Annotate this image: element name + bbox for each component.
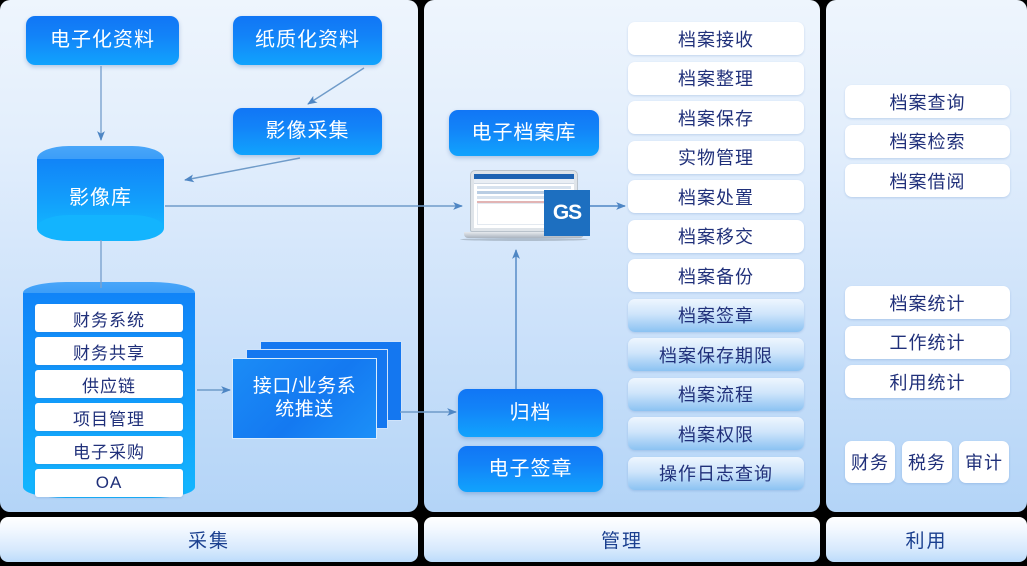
use-tag-item-label: 财务 bbox=[851, 449, 889, 475]
cylinder-business-systems: 财务系统财务共享供应链项目管理电子采购OA bbox=[23, 282, 195, 498]
feature-item-label: 档案移交 bbox=[678, 223, 754, 249]
laptop-illustration: GS bbox=[464, 170, 584, 242]
stack-interface-push[interactable]: 接口/业务系 统推送 bbox=[232, 341, 400, 437]
use-tag-item[interactable]: 税务 bbox=[902, 441, 952, 483]
use-query-item-label: 档案查询 bbox=[890, 89, 966, 115]
feature-item[interactable]: 档案接收 bbox=[628, 22, 804, 55]
feature-item[interactable]: 档案备份 bbox=[628, 259, 804, 292]
business-system-item-label: OA bbox=[96, 473, 123, 493]
use-tag-item-label: 税务 bbox=[908, 449, 946, 475]
feature-item[interactable]: 档案权限 bbox=[628, 417, 804, 450]
feature-item-label: 档案权限 bbox=[678, 421, 754, 447]
use-tag-item[interactable]: 审计 bbox=[959, 441, 1009, 483]
box-paper-materials-label: 纸质化资料 bbox=[255, 29, 360, 52]
feature-item-label: 档案流程 bbox=[678, 381, 754, 407]
feature-item[interactable]: 档案流程 bbox=[628, 378, 804, 411]
diagram-canvas: 电子化资料 纸质化资料 影像采集 影像库 财务系统财务共享供应链项目管理电子采购… bbox=[0, 0, 1027, 566]
feature-item-label: 档案保存 bbox=[678, 105, 754, 131]
stack-sheet-front[interactable]: 接口/业务系 统推送 bbox=[232, 358, 377, 439]
cylinder-image-repository[interactable]: 影像库 bbox=[37, 146, 164, 241]
business-system-item[interactable]: 财务共享 bbox=[35, 337, 183, 365]
business-system-item-label: 供应链 bbox=[82, 372, 136, 397]
feature-item-label: 档案签章 bbox=[678, 302, 754, 328]
box-electronic-seal-label: 电子签章 bbox=[489, 458, 573, 481]
feature-item-label: 实物管理 bbox=[678, 144, 754, 170]
business-system-item[interactable]: 财务系统 bbox=[35, 304, 183, 332]
use-tag-item[interactable]: 财务 bbox=[845, 441, 895, 483]
feature-item[interactable]: 档案保存期限 bbox=[628, 338, 804, 371]
business-system-item-label: 财务共享 bbox=[73, 339, 145, 364]
manage-feature-list: 档案接收档案整理档案保存实物管理档案处置档案移交档案备份档案签章档案保存期限档案… bbox=[628, 0, 808, 512]
panel-use: 档案查询档案检索档案借阅 档案统计工作统计利用统计 财务税务审计 bbox=[826, 0, 1027, 512]
use-query-item-label: 档案检索 bbox=[890, 128, 966, 154]
use-query-item-label: 档案借阅 bbox=[890, 168, 966, 194]
box-electronic-archive-db[interactable]: 电子档案库 bbox=[449, 110, 599, 156]
business-system-item[interactable]: 项目管理 bbox=[35, 403, 183, 431]
use-query-item[interactable]: 档案检索 bbox=[845, 125, 1010, 158]
footer-manage[interactable]: 管理 bbox=[424, 517, 820, 562]
business-system-item[interactable]: OA bbox=[35, 469, 183, 497]
feature-item[interactable]: 档案移交 bbox=[628, 220, 804, 253]
footer-manage-label: 管理 bbox=[601, 526, 643, 553]
push-label-line2: 统推送 bbox=[253, 399, 356, 422]
use-query-item[interactable]: 档案查询 bbox=[845, 85, 1010, 118]
box-archive-action[interactable]: 归档 bbox=[458, 389, 603, 437]
use-stats-item[interactable]: 利用统计 bbox=[845, 365, 1010, 398]
use-tag-item-label: 审计 bbox=[965, 449, 1003, 475]
cylinder-bottom-ellipse bbox=[37, 215, 164, 241]
footer-collect[interactable]: 采集 bbox=[0, 517, 418, 562]
box-image-capture[interactable]: 影像采集 bbox=[233, 108, 382, 155]
feature-item[interactable]: 档案保存 bbox=[628, 101, 804, 134]
cylinder-image-repository-label: 影像库 bbox=[37, 181, 164, 210]
feature-item[interactable]: 档案整理 bbox=[628, 62, 804, 95]
box-paper-materials[interactable]: 纸质化资料 bbox=[233, 16, 382, 65]
feature-item[interactable]: 档案签章 bbox=[628, 299, 804, 332]
screen-toolbar bbox=[474, 179, 574, 184]
box-electronic-materials-label: 电子化资料 bbox=[50, 29, 155, 52]
feature-item-label: 档案处置 bbox=[678, 184, 754, 210]
feature-item-label: 操作日志查询 bbox=[659, 460, 773, 486]
use-tags-group: 财务税务审计 bbox=[845, 441, 1010, 483]
panel-manage: 电子档案库 GS 归档 bbox=[424, 0, 820, 512]
panel-collect: 电子化资料 纸质化资料 影像采集 影像库 财务系统财务共享供应链项目管理电子采购… bbox=[0, 0, 418, 512]
box-electronic-materials[interactable]: 电子化资料 bbox=[26, 16, 179, 65]
use-stats-item[interactable]: 工作统计 bbox=[845, 326, 1010, 359]
use-stats-item-label: 工作统计 bbox=[890, 329, 966, 355]
footer-use[interactable]: 利用 bbox=[826, 517, 1027, 562]
footer-collect-label: 采集 bbox=[188, 526, 230, 553]
screen-row bbox=[477, 186, 571, 189]
business-system-item-label: 财务系统 bbox=[73, 306, 145, 331]
box-electronic-seal[interactable]: 电子签章 bbox=[458, 446, 603, 492]
laptop-shadow bbox=[460, 238, 588, 241]
business-system-item[interactable]: 供应链 bbox=[35, 370, 183, 398]
feature-item-label: 档案保存期限 bbox=[659, 342, 773, 368]
use-stats-item[interactable]: 档案统计 bbox=[845, 286, 1010, 319]
box-electronic-archive-db-label: 电子档案库 bbox=[472, 122, 577, 145]
use-query-item[interactable]: 档案借阅 bbox=[845, 164, 1010, 197]
feature-item-label: 档案整理 bbox=[678, 65, 754, 91]
box-image-capture-label: 影像采集 bbox=[266, 120, 350, 143]
use-stats-item-label: 档案统计 bbox=[890, 290, 966, 316]
feature-item[interactable]: 操作日志查询 bbox=[628, 457, 804, 490]
business-system-item[interactable]: 电子采购 bbox=[35, 436, 183, 464]
box-archive-action-label: 归档 bbox=[510, 402, 552, 425]
feature-item-label: 档案接收 bbox=[678, 26, 754, 52]
gs-logo-icon: GS bbox=[544, 190, 590, 236]
business-system-item-label: 项目管理 bbox=[73, 405, 145, 430]
footer-use-label: 利用 bbox=[905, 526, 947, 553]
feature-item-label: 档案备份 bbox=[678, 263, 754, 289]
business-system-item-label: 电子采购 bbox=[73, 438, 145, 463]
feature-item[interactable]: 档案处置 bbox=[628, 180, 804, 213]
use-stats-item-label: 利用统计 bbox=[890, 369, 966, 395]
feature-item[interactable]: 实物管理 bbox=[628, 141, 804, 174]
gs-logo-text: GS bbox=[553, 201, 581, 225]
push-label-line1: 接口/业务系 bbox=[253, 376, 356, 399]
